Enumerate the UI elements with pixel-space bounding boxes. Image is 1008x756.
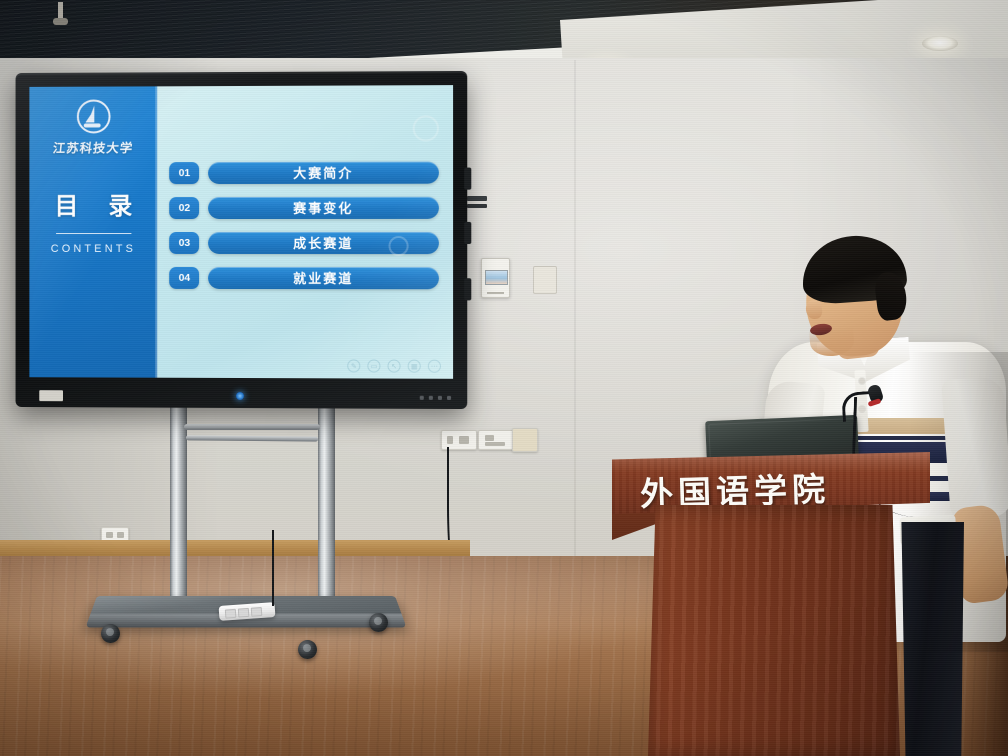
interactive-display[interactable]: 江苏科技大学 目 录 CONTENTS 01 大赛简介 02	[16, 71, 468, 409]
more-icon[interactable]: ⋯	[428, 360, 441, 373]
display-side-button[interactable]	[464, 168, 471, 190]
display-control-buttons[interactable]	[420, 396, 451, 400]
toc-item-number: 02	[170, 197, 200, 219]
wall-data-port[interactable]	[478, 430, 514, 450]
pen-icon[interactable]: ✎	[347, 359, 360, 372]
toc-item-label[interactable]: 就业赛道	[208, 266, 439, 288]
toc-item-number: 01	[170, 162, 200, 184]
title-divider	[56, 233, 131, 234]
slide-right-panel: 01 大赛简介 02 赛事变化 03 成长赛道 04 就业赛道	[158, 85, 454, 379]
toc-item[interactable]: 01 大赛简介	[170, 161, 439, 184]
wall-plate-beige	[512, 428, 538, 452]
toc-item[interactable]: 02 赛事变化	[170, 196, 439, 218]
toc-item[interactable]: 04 就业赛道	[170, 266, 439, 288]
power-indicator-led	[236, 392, 244, 400]
display-side-button[interactable]	[464, 222, 471, 244]
university-name: 江苏科技大学	[52, 137, 134, 156]
stand-caster	[369, 613, 388, 632]
toc-item-label[interactable]: 赛事变化	[208, 196, 439, 218]
stand-column-right	[318, 398, 335, 604]
slide-subtitle: CONTENTS	[51, 243, 136, 255]
slide-title: 目 录	[44, 186, 143, 221]
shirt-button	[859, 378, 865, 384]
watermark-circle	[388, 236, 408, 256]
slide-left-panel: 江苏科技大学 目 录 CONTENTS	[29, 86, 157, 377]
toc-item-number: 03	[170, 232, 200, 254]
presenter-trousers	[896, 522, 964, 756]
podium-body	[648, 505, 900, 756]
stand-caster	[298, 640, 317, 659]
stand-caster	[101, 624, 120, 643]
wall-seam	[574, 60, 576, 565]
display-screen[interactable]: 江苏科技大学 目 录 CONTENTS 01 大赛简介 02	[29, 85, 453, 379]
university-emblem-icon	[76, 100, 110, 134]
thermostat-screen	[485, 270, 508, 285]
wall-conduit	[467, 196, 487, 201]
stand-crossbar	[184, 424, 320, 430]
slide-toolbar[interactable]: ✎ ▭ ↖ ▦ ⋯	[347, 359, 441, 372]
university-logo: 江苏科技大学	[53, 99, 133, 156]
sprinkler-head	[58, 2, 63, 24]
grid-icon[interactable]: ▦	[408, 360, 421, 373]
presentation-slide: 江苏科技大学 目 录 CONTENTS 01 大赛简介 02	[29, 85, 453, 379]
toc-item-label[interactable]: 大赛简介	[208, 161, 439, 183]
eraser-icon[interactable]: ▭	[367, 359, 380, 372]
recessed-downlight	[922, 36, 958, 51]
thermostat-button-strip	[487, 292, 504, 294]
presentation-photo-scene: 江苏科技大学 目 录 CONTENTS 01 大赛简介 02	[0, 0, 1008, 756]
watermark-circle	[413, 115, 439, 141]
presenter-right-sleeve	[941, 376, 1008, 520]
wall-thermostat[interactable]	[481, 258, 510, 298]
wall-blank-plate	[533, 266, 557, 294]
toc-item-number: 04	[170, 266, 200, 288]
display-label-sticker	[39, 390, 63, 401]
wall-conduit	[467, 204, 487, 208]
pointer-icon[interactable]: ↖	[387, 359, 400, 372]
display-side-button[interactable]	[464, 278, 471, 300]
